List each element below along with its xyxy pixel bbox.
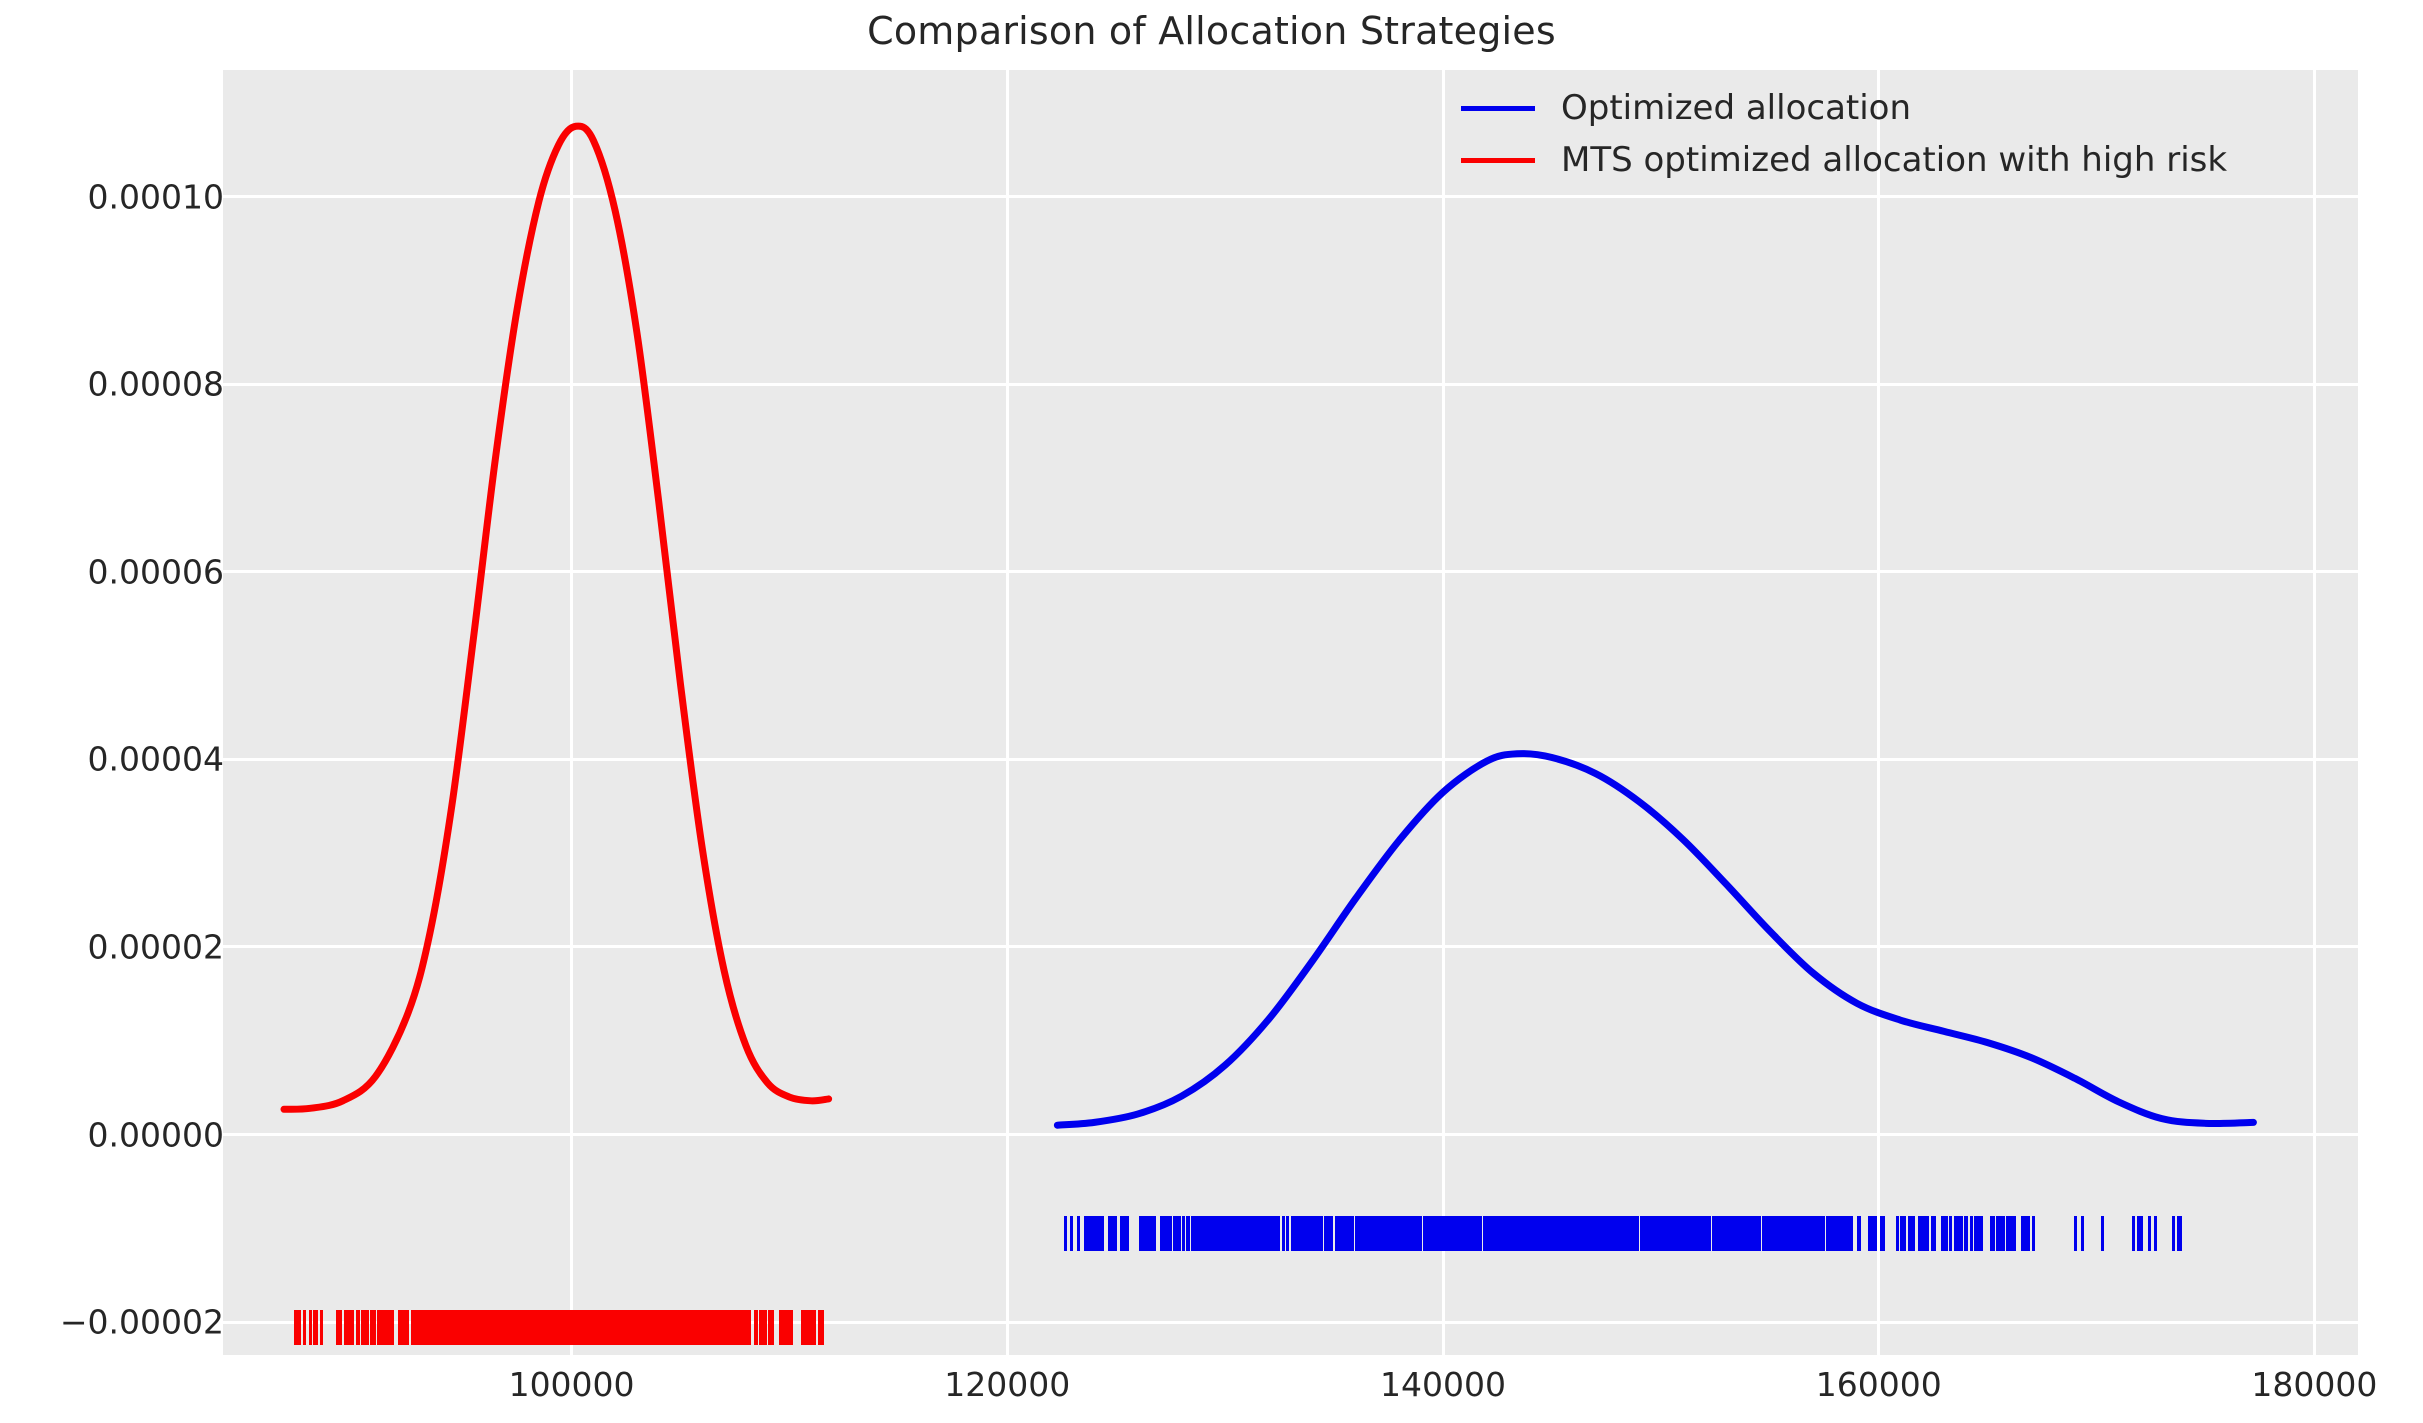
rug-tick: [1499, 1216, 1502, 1251]
rug-tick: [1826, 1216, 1829, 1251]
rug-tick: [1111, 1216, 1114, 1251]
rug-tick: [1945, 1216, 1948, 1251]
chart-legend[interactable]: Optimized allocationMTS optimized alloca…: [1445, 68, 2355, 198]
rug-tick: [1822, 1216, 1825, 1251]
rug-tick: [1974, 1216, 1977, 1251]
rug-tick: [1241, 1216, 1244, 1251]
rug-tick: [1941, 1216, 1944, 1251]
y-tick-label: 0.00010: [88, 177, 224, 216]
rug-tick: [1857, 1216, 1860, 1251]
rug-tick: [370, 1310, 373, 1345]
rug-tick: [1683, 1216, 1686, 1251]
rug-tick: [1306, 1216, 1309, 1251]
rug-tick: [1463, 1216, 1466, 1251]
rug-tick: [1583, 1216, 1586, 1251]
rug-tick: [481, 1310, 484, 1345]
rug-tick: [384, 1310, 387, 1345]
rug-tick: [1266, 1216, 1269, 1251]
rug-tick: [1648, 1216, 1651, 1251]
rug-tick: [1193, 1216, 1196, 1251]
rug-tick: [1091, 1216, 1094, 1251]
rug-tick: [1926, 1216, 1929, 1251]
rug-tick: [1612, 1216, 1615, 1251]
rug-tick: [563, 1310, 566, 1345]
rug-tick: [2148, 1216, 2151, 1251]
rug-tick: [1789, 1216, 1792, 1251]
rug-tick: [1478, 1216, 1481, 1251]
rug-tick: [1796, 1216, 1799, 1251]
rug-tick: [1214, 1216, 1217, 1251]
rug-tick: [339, 1310, 342, 1345]
rug-tick: [432, 1310, 435, 1345]
rug-tick: [764, 1310, 767, 1345]
y-tick-label: −0.00002: [60, 1303, 224, 1342]
rug-tick: [320, 1310, 323, 1345]
rug-tick: [1807, 1216, 1810, 1251]
rug-tick: [748, 1310, 751, 1345]
rug-tick: [303, 1310, 306, 1345]
rug-tick: [1687, 1216, 1690, 1251]
rug-tick: [1389, 1216, 1392, 1251]
rug-tick: [2154, 1216, 2157, 1251]
rug-tick: [1783, 1216, 1786, 1251]
rug-tick: [1772, 1216, 1775, 1251]
rug-tick: [1536, 1216, 1539, 1251]
rug-tick: [1752, 1216, 1755, 1251]
rug-tick: [1691, 1216, 1694, 1251]
rug-tick: [377, 1310, 380, 1345]
rug-tick: [1957, 1216, 1960, 1251]
rug-tick: [679, 1310, 682, 1345]
rug-tick: [782, 1310, 785, 1345]
rug-tick: [2032, 1216, 2035, 1251]
rug-tick: [1598, 1216, 1601, 1251]
rug-tick: [503, 1310, 506, 1345]
rug-tick: [298, 1310, 301, 1345]
rug-tick: [1336, 1216, 1339, 1251]
x-tick-label: 120000: [944, 1365, 1070, 1404]
rug-tick: [1850, 1216, 1853, 1251]
rug-tick: [1591, 1216, 1594, 1251]
rug-tick: [1199, 1216, 1202, 1251]
rug-tick: [646, 1310, 649, 1345]
rug-tick: [1517, 1216, 1520, 1251]
rug-tick: [1521, 1216, 1524, 1251]
rug-tick: [1696, 1216, 1699, 1251]
kde-curve-optimized-allocation: [1057, 754, 2253, 1126]
rug-tick: [476, 1310, 479, 1345]
rug-tick: [1931, 1216, 1934, 1251]
rug-tick: [499, 1310, 502, 1345]
rug-tick: [1778, 1216, 1781, 1251]
rug-tick: [1372, 1216, 1375, 1251]
rug-tick: [1318, 1216, 1321, 1251]
rug-tick: [627, 1310, 630, 1345]
kde-curves: [223, 70, 2358, 1355]
rug-tick: [1707, 1216, 1710, 1251]
rug-tick: [406, 1310, 409, 1345]
rug-tick: [1324, 1216, 1327, 1251]
y-tick-label: 0.00004: [88, 740, 224, 779]
legend-item-label: Optimized allocation: [1561, 88, 1911, 128]
rug-tick: [1874, 1216, 1877, 1251]
rug-tick: [755, 1310, 758, 1345]
rug-tick: [1960, 1216, 1963, 1251]
rug-tick: [1178, 1216, 1181, 1251]
rug-tick: [1350, 1216, 1353, 1251]
rug-tick: [1741, 1216, 1744, 1251]
y-tick-label: 0.00006: [88, 552, 224, 591]
rug-tick: [2132, 1216, 2135, 1251]
rug-tick: [1254, 1216, 1257, 1251]
rug-tick: [1169, 1216, 1172, 1251]
rug-tick: [592, 1310, 595, 1345]
rug-tick: [1084, 1216, 1087, 1251]
rug-tick: [701, 1310, 704, 1345]
rug-tick: [693, 1310, 696, 1345]
rug-tick: [1949, 1216, 1952, 1251]
rug-tick: [656, 1310, 659, 1345]
rug-tick: [1355, 1216, 1358, 1251]
rug-tick: [540, 1310, 543, 1345]
rug-tick: [1282, 1216, 1285, 1251]
rug-tick: [1251, 1216, 1254, 1251]
rug-tick: [1439, 1216, 1442, 1251]
rug-tick: [789, 1310, 792, 1345]
rug-tick: [520, 1310, 523, 1345]
rug-tick: [1270, 1216, 1273, 1251]
rug-tick: [580, 1310, 583, 1345]
rug-tick: [557, 1310, 560, 1345]
rug-tick: [1124, 1216, 1127, 1251]
rug-tick: [653, 1310, 656, 1345]
rug-tick: [1511, 1216, 1514, 1251]
rug-tick: [1150, 1216, 1153, 1251]
rug-tick: [1419, 1216, 1422, 1251]
rug-tick: [1804, 1216, 1807, 1251]
rug-tick: [1766, 1216, 1769, 1251]
rug-tick: [1668, 1216, 1671, 1251]
rug-tick: [523, 1310, 526, 1345]
rug-tick: [708, 1310, 711, 1345]
rug-tick: [1504, 1216, 1507, 1251]
rug-tick: [2007, 1216, 2010, 1251]
rug-tick: [1145, 1216, 1148, 1251]
chart-title: Comparison of Allocation Strategies: [0, 0, 2423, 62]
rug-tick: [1394, 1216, 1397, 1251]
rug-tick: [1911, 1216, 1914, 1251]
rug-tick: [1525, 1216, 1528, 1251]
rug-tick: [696, 1310, 699, 1345]
figure-canvas: Comparison of Allocation Strategies −0.0…: [0, 0, 2423, 1423]
plot-area[interactable]: [223, 70, 2358, 1355]
rug-tick: [1377, 1216, 1380, 1251]
legend-item-0[interactable]: Optimized allocation: [1445, 82, 2355, 134]
rug-tick: [1575, 1216, 1578, 1251]
rug-tick: [2074, 1216, 2077, 1251]
rug-tick: [1494, 1216, 1497, 1251]
rug-tick: [1070, 1216, 1073, 1251]
rug-tick: [1488, 1216, 1491, 1251]
rug-tick: [736, 1310, 739, 1345]
rug-tick: [350, 1310, 353, 1345]
rug-tick: [1100, 1216, 1103, 1251]
rug-tick: [446, 1310, 449, 1345]
rug-tick: [786, 1310, 789, 1345]
rug-tick: [2011, 1216, 2014, 1251]
rug-tick: [551, 1310, 554, 1345]
rug-tick: [455, 1310, 458, 1345]
rug-tick: [1451, 1216, 1454, 1251]
rug-tick: [705, 1310, 708, 1345]
rug-tick: [1608, 1216, 1611, 1251]
rug-tick: [1327, 1216, 1330, 1251]
rug-tick: [425, 1310, 428, 1345]
rug-tick: [1224, 1216, 1227, 1251]
rug-tick: [2027, 1216, 2030, 1251]
rug-tick: [1468, 1216, 1471, 1251]
rug-tick: [688, 1310, 691, 1345]
rug-tick: [660, 1310, 663, 1345]
rug-tick: [1896, 1216, 1899, 1251]
rug-tick: [357, 1310, 360, 1345]
rug-tick: [1921, 1216, 1924, 1251]
rug-tick: [574, 1310, 577, 1345]
rug-tick: [1570, 1216, 1573, 1251]
rug-tick: [726, 1310, 729, 1345]
rug-tick: [313, 1310, 316, 1345]
rug-tick: [1483, 1216, 1486, 1251]
rug-tick: [618, 1310, 621, 1345]
rug-tick: [1840, 1216, 1843, 1251]
rug-tick: [1965, 1216, 1968, 1251]
rug-tick: [770, 1310, 773, 1345]
rug-tick: [388, 1310, 391, 1345]
rug-tick: [1429, 1216, 1432, 1251]
rug-tick: [640, 1310, 643, 1345]
rug-tick: [1286, 1216, 1289, 1251]
rug-tick: [813, 1310, 816, 1345]
rug-tick: [1656, 1216, 1659, 1251]
rug-tick: [1097, 1216, 1100, 1251]
rug-tick: [1263, 1216, 1266, 1251]
rug-tick: [462, 1310, 465, 1345]
rug-tick: [1758, 1216, 1761, 1251]
rug-tick: [1153, 1216, 1156, 1251]
x-tick-label: 140000: [1380, 1365, 1506, 1404]
rug-tick: [363, 1310, 366, 1345]
rug-tick: [1812, 1216, 1815, 1251]
rug-tick: [1234, 1216, 1237, 1251]
rug-tick: [1990, 1216, 1993, 1251]
rug-tick: [2021, 1216, 2024, 1251]
x-tick-label: 100000: [509, 1365, 635, 1404]
rug-tick: [1703, 1216, 1706, 1251]
rug-tick: [531, 1310, 534, 1345]
rug-tick: [723, 1310, 726, 1345]
rug-tick: [2101, 1216, 2104, 1251]
rug-tick: [599, 1310, 602, 1345]
rug-tick: [609, 1310, 612, 1345]
rug-tick: [732, 1310, 735, 1345]
rug-tick: [366, 1310, 369, 1345]
rug-tick: [1634, 1216, 1637, 1251]
y-tick-label: 0.00002: [88, 927, 224, 966]
rug-tick: [1381, 1216, 1384, 1251]
x-tick-label: 180000: [2251, 1365, 2377, 1404]
rug-tick: [1908, 1216, 1911, 1251]
rug-tick: [1645, 1216, 1648, 1251]
rug-tick: [1182, 1216, 1185, 1251]
y-tick-label: 0.00000: [88, 1115, 224, 1154]
rug-tick: [1175, 1216, 1178, 1251]
rug-tick: [1064, 1216, 1067, 1251]
rug-tick: [1722, 1216, 1725, 1251]
rug-tick: [1443, 1216, 1446, 1251]
rug-tick: [1246, 1216, 1249, 1251]
rug-tick: [741, 1310, 744, 1345]
rug-tick: [526, 1310, 529, 1345]
rug-tick: [2172, 1216, 2175, 1251]
rug-tick: [2081, 1216, 2084, 1251]
rug-tick: [1161, 1216, 1164, 1251]
rug-tick: [1077, 1216, 1080, 1251]
rug-tick: [1869, 1216, 1872, 1251]
rug-tick: [818, 1310, 821, 1345]
rug-tick: [443, 1310, 446, 1345]
rug-tick: [1623, 1216, 1626, 1251]
rug-tick: [1604, 1216, 1607, 1251]
rug-tick: [1206, 1216, 1209, 1251]
rug-tick: [1415, 1216, 1418, 1251]
rug-tick: [719, 1310, 722, 1345]
rug-tick: [675, 1310, 678, 1345]
rug-tick: [1360, 1216, 1363, 1251]
rug-tick: [1386, 1216, 1389, 1251]
rug-tick: [1473, 1216, 1476, 1251]
rug-tick: [666, 1310, 669, 1345]
rug-tick: [1340, 1216, 1343, 1251]
y-tick-label: 0.00008: [88, 365, 224, 404]
rug-tick: [1676, 1216, 1679, 1251]
rug-tick: [1978, 1216, 1981, 1251]
rug-tick: [2002, 1216, 2005, 1251]
kde-curve-mts-optimized-allocation: [284, 126, 829, 1109]
rug-tick: [1801, 1216, 1804, 1251]
rug-tick: [1903, 1216, 1906, 1251]
rug-tick: [803, 1310, 806, 1345]
rug-tick: [467, 1310, 470, 1345]
rug-tick: [1837, 1216, 1840, 1251]
rug-tick: [588, 1310, 591, 1345]
rug-tick: [1586, 1216, 1589, 1251]
rug-tick: [1408, 1216, 1411, 1251]
rug-tick: [1165, 1216, 1168, 1251]
rug-tick: [759, 1310, 762, 1345]
rug-tick: [1527, 1216, 1530, 1251]
rug-tick: [2177, 1216, 2180, 1251]
rug-tick: [511, 1310, 514, 1345]
rug-tick: [515, 1310, 518, 1345]
rug-tick: [2140, 1216, 2143, 1251]
rug-tick: [439, 1310, 442, 1345]
rug-tick: [391, 1310, 394, 1345]
rug-tick: [1424, 1216, 1427, 1251]
rug-tick: [470, 1310, 473, 1345]
rug-tick: [806, 1310, 809, 1345]
rug-tick: [1793, 1216, 1796, 1251]
rug-tick: [1312, 1216, 1315, 1251]
rug-tick: [399, 1310, 402, 1345]
rug-tick: [1882, 1216, 1885, 1251]
rug-tick: [1274, 1216, 1277, 1251]
rug-tick: [1617, 1216, 1620, 1251]
rug-tick: [606, 1310, 609, 1345]
rug-tick: [1735, 1216, 1738, 1251]
rug-tick: [1542, 1216, 1545, 1251]
rug-tick: [2137, 1216, 2140, 1251]
rug-tick: [1457, 1216, 1460, 1251]
rug-tick: [623, 1310, 626, 1345]
rug-tick: [1551, 1216, 1554, 1251]
rug-tick: [488, 1310, 491, 1345]
rug-tick: [584, 1310, 587, 1345]
legend-item-label: MTS optimized allocation with high risk: [1561, 140, 2227, 180]
legend-line-icon: [1461, 106, 1535, 111]
rug-tick: [1301, 1216, 1304, 1251]
rug-tick: [1139, 1216, 1142, 1251]
rug-tick: [1402, 1216, 1405, 1251]
rug-tick: [412, 1310, 415, 1345]
rug-tick: [534, 1310, 537, 1345]
rug-tick: [671, 1310, 674, 1345]
rug-tick: [1345, 1216, 1348, 1251]
legend-item-1[interactable]: MTS optimized allocation with high risk: [1445, 134, 2355, 186]
rug-tick: [309, 1310, 312, 1345]
x-tick-label: 160000: [1816, 1365, 1942, 1404]
rug-tick: [1191, 1216, 1194, 1251]
legend-line-icon: [1461, 158, 1535, 163]
rug-tick: [1556, 1216, 1559, 1251]
rug-tick: [633, 1310, 636, 1345]
